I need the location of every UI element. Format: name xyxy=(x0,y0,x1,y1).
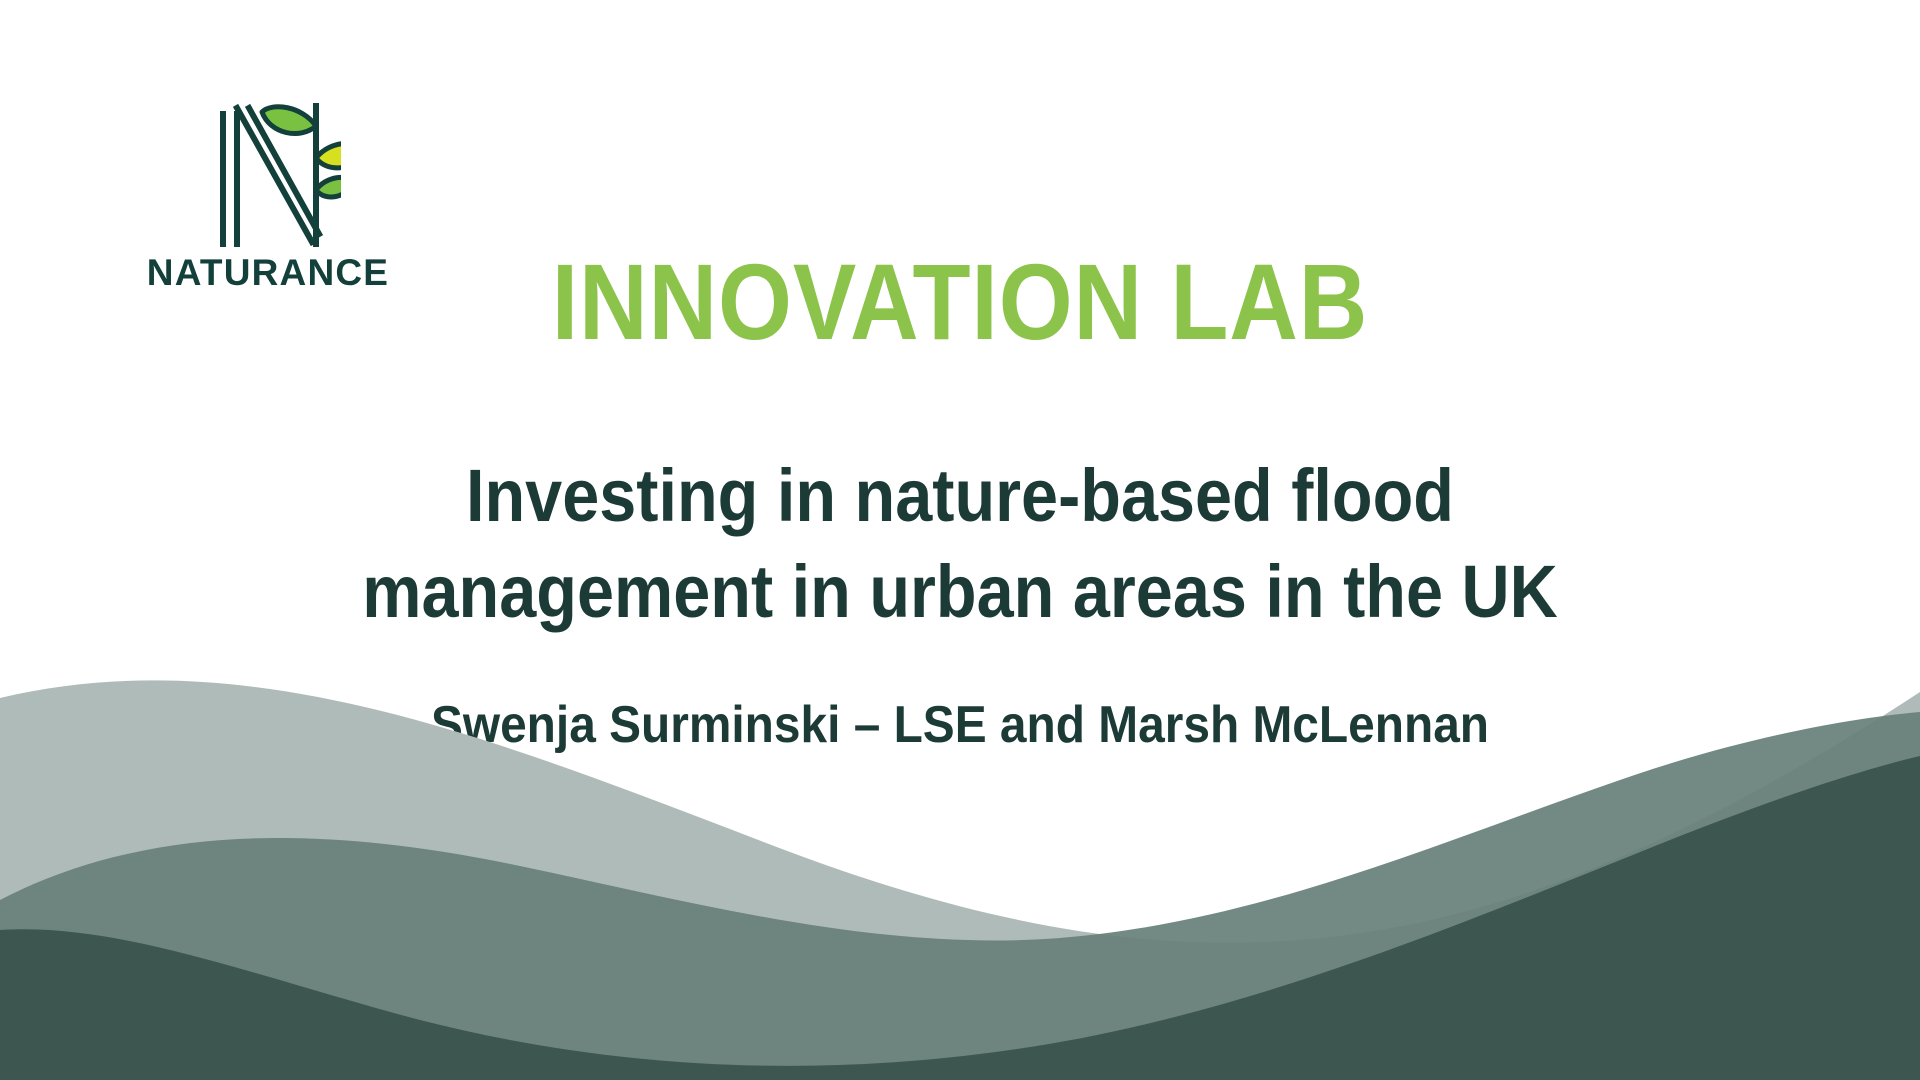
wave-mid-layer xyxy=(0,712,1920,1080)
presenter-byline: Swenja Surminski – LSE and Marsh McLenna… xyxy=(316,694,1604,756)
wave-dark-layer xyxy=(0,756,1920,1080)
subtitle-line-1: Investing in nature-based flood xyxy=(330,448,1590,544)
decorative-wave-graphic xyxy=(0,600,1920,1080)
naturance-n-leaf-icon xyxy=(206,92,341,252)
slide-subtitle: Investing in nature-based flood manageme… xyxy=(330,448,1590,640)
presentation-slide: NATURANCE INNOVATION LAB Investing in na… xyxy=(0,0,1920,1080)
page-title: INNOVATION LAB xyxy=(115,248,1805,356)
subtitle-line-2: management in urban areas in the UK xyxy=(330,544,1590,640)
